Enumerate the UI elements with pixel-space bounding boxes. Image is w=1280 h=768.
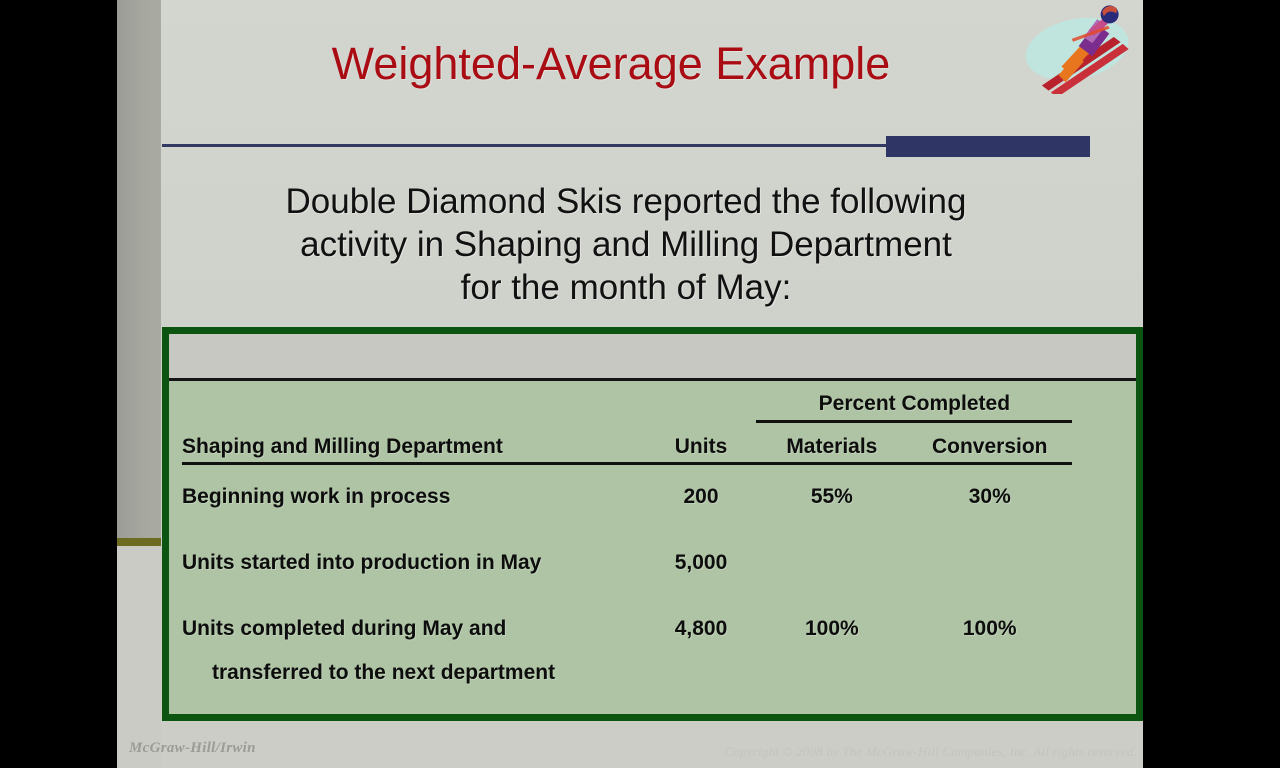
table-row: Beginning work in process 200 55% 30%: [169, 465, 1136, 509]
footer-publisher: McGraw-Hill/Irwin: [129, 740, 256, 757]
table-row-spacer-cell: [169, 575, 1136, 597]
title-underline-rule: [162, 144, 887, 147]
row-description: Units completed during May and: [169, 597, 646, 641]
table-group-header-row: Percent Completed: [169, 381, 1136, 423]
row-right-pad: [1072, 531, 1136, 575]
page-title: Weighted-Average Example: [161, 38, 1061, 90]
column-header-materials-label: Materials: [756, 435, 907, 465]
row-description-line2-label: transferred to the next department: [182, 661, 646, 685]
row-continuation-conversion-pad: [907, 641, 1072, 685]
template-sidebar-band-lower: [117, 546, 161, 768]
subtitle-line-3: for the month of May:: [161, 266, 1091, 309]
row-conversion: 100%: [907, 597, 1072, 641]
column-header-description: Shaping and Milling Department: [169, 423, 646, 465]
table-row-continuation: transferred to the next department: [169, 641, 1136, 685]
slide-canvas: Weighted-Average Example: [117, 0, 1143, 768]
row-right-pad: [1072, 597, 1136, 641]
column-header-units: Units: [646, 423, 757, 465]
data-table-wrapper: Percent Completed Shaping and Milling De…: [169, 381, 1136, 714]
table-row-spacer: [169, 575, 1136, 597]
row-conversion: [907, 531, 1072, 575]
column-header-conversion-label: Conversion: [907, 435, 1072, 465]
row-materials: [756, 531, 907, 575]
exhibit-box: Percent Completed Shaping and Milling De…: [162, 327, 1143, 721]
group-header-right-pad: [1072, 381, 1136, 423]
title-accent-bar: [886, 136, 1090, 157]
column-header-right-pad: [1072, 423, 1136, 465]
column-header-materials: Materials: [756, 423, 907, 465]
row-right-pad: [1072, 465, 1136, 509]
slide-subtitle: Double Diamond Skis reported the followi…: [161, 180, 1091, 309]
table-row: Units started into production in May 5,0…: [169, 531, 1136, 575]
group-header-label: Percent Completed: [756, 392, 1072, 423]
template-sidebar-divider: [117, 538, 161, 546]
row-continuation-units-pad: [646, 641, 757, 685]
slide-stage: Weighted-Average Example: [0, 0, 1280, 768]
row-continuation-materials-pad: [756, 641, 907, 685]
row-description: Units started into production in May: [169, 531, 646, 575]
row-description-line2: transferred to the next department: [169, 641, 646, 685]
exhibit-top-strip: [169, 334, 1136, 381]
table-row-spacer-cell: [169, 509, 1136, 531]
row-continuation-right-pad: [1072, 641, 1136, 685]
table-row-spacer: [169, 509, 1136, 531]
footer-copyright: Copyright © 2008 by The McGraw-Hill Comp…: [687, 744, 1137, 760]
row-units: 200: [646, 465, 757, 509]
row-materials: 100%: [756, 597, 907, 641]
subtitle-line-1: Double Diamond Skis reported the followi…: [161, 180, 1091, 223]
group-header-spacer: [169, 381, 646, 423]
data-table: Percent Completed Shaping and Milling De…: [169, 381, 1136, 685]
subtitle-line-2: activity in Shaping and Milling Departme…: [161, 223, 1091, 266]
group-header-units-spacer: [646, 381, 757, 423]
template-sidebar-band-upper: [117, 0, 161, 538]
row-materials: 55%: [756, 465, 907, 509]
ski-jumper-logo: [1015, 2, 1143, 94]
group-header-percent-completed: Percent Completed: [756, 381, 1072, 423]
table-row: Units completed during May and 4,800 100…: [169, 597, 1136, 641]
column-header-description-label: Shaping and Milling Department: [182, 435, 646, 465]
column-header-conversion: Conversion: [907, 423, 1072, 465]
row-units: 4,800: [646, 597, 757, 641]
column-header-units-label: Units: [646, 435, 757, 465]
row-description: Beginning work in process: [169, 465, 646, 509]
row-units: 5,000: [646, 531, 757, 575]
row-conversion: 30%: [907, 465, 1072, 509]
table-header-row: Shaping and Milling Department Units Mat…: [169, 423, 1136, 465]
